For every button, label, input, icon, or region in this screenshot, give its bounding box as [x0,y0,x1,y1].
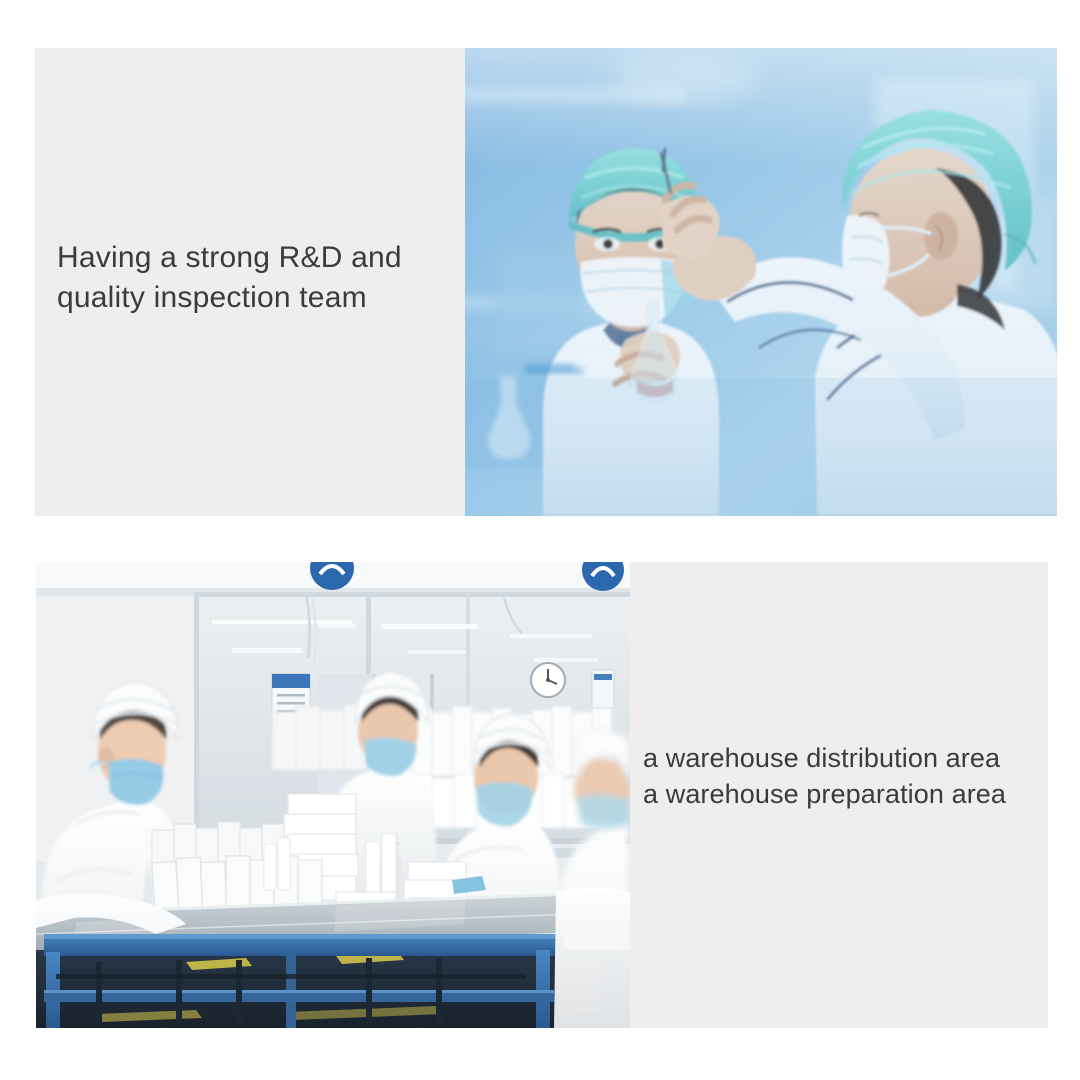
top-caption-text: Having a strong R&D and quality inspecti… [57,238,457,318]
bottom-section: a warehouse distribution area a warehous… [36,562,1048,1028]
quality-inspection-photo [465,48,1057,516]
warehouse-packing-photo-art [36,562,630,1028]
bottom-caption-panel: a warehouse distribution area a warehous… [630,562,1048,1028]
poster-canvas: Having a strong R&D and quality inspecti… [0,0,1080,1080]
quality-inspection-photo-art [465,48,1057,516]
top-section: Having a strong R&D and quality inspecti… [35,48,1057,516]
bottom-caption-text: a warehouse distribution area a warehous… [643,740,1048,812]
warehouse-packing-photo [36,562,630,1028]
top-caption-panel: Having a strong R&D and quality inspecti… [35,48,465,516]
